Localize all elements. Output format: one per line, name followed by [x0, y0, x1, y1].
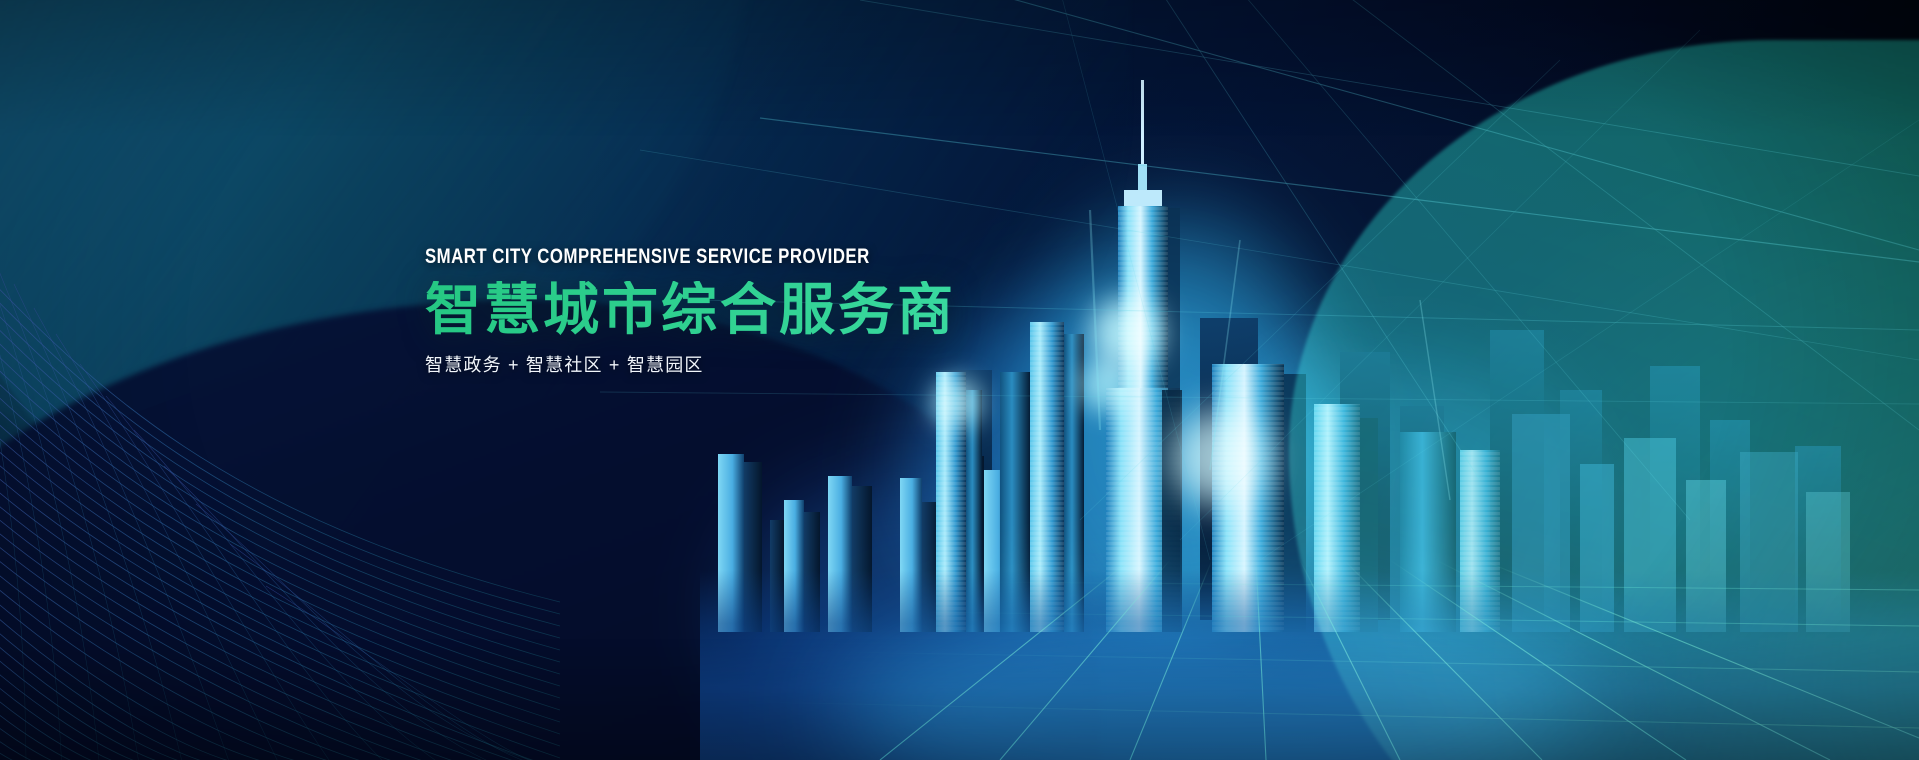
hero-copy-block: SMART CITY COMPREHENSIVE SERVICE PROVIDE… [425, 246, 1185, 374]
hero-eyebrow: SMART CITY COMPREHENSIVE SERVICE PROVIDE… [425, 246, 1033, 267]
hero-subline: 智慧政务 + 智慧社区 + 智慧园区 [425, 356, 1185, 374]
hero-headline: 智慧城市综合服务商 [425, 281, 1185, 339]
hero-banner: SMART CITY COMPREHENSIVE SERVICE PROVIDE… [0, 0, 1919, 760]
